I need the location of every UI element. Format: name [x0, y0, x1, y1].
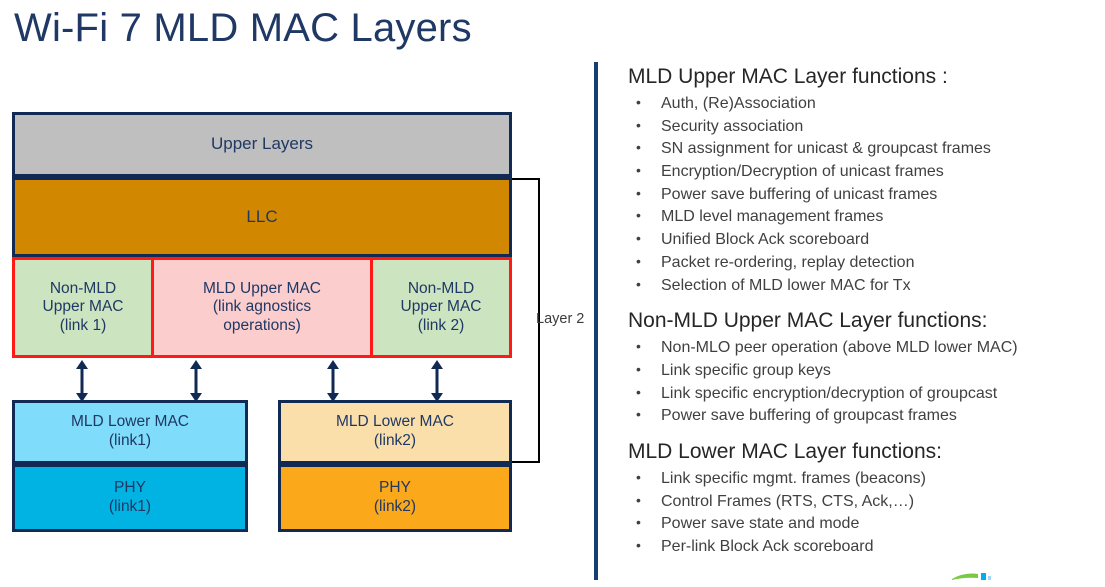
- bullet-icon: •: [636, 116, 641, 136]
- block-label: PHY(link1): [109, 479, 151, 516]
- diagram-block-mld-lower-mac-link2: MLD Lower MAC(link2): [278, 400, 512, 464]
- list-item-label: Packet re-ordering, replay detection: [661, 254, 914, 271]
- bullet-icon: •: [636, 138, 641, 158]
- list-item-label: Link specific mgmt. frames (beacons): [661, 470, 926, 487]
- list-item-label: Non-MLO peer operation (above MLD lower …: [661, 339, 1018, 356]
- list-item: •Packet re-ordering, replay detection: [628, 252, 1105, 275]
- bullet-icon: •: [636, 383, 641, 403]
- bullet-icon: •: [636, 536, 641, 556]
- bullet-icon: •: [636, 513, 641, 533]
- double-arrow-icon: [429, 360, 445, 402]
- section-bullets-mld-lower-mac: •Link specific mgmt. frames (beacons) •C…: [628, 468, 1105, 559]
- list-item-label: Power save buffering of groupcast frames: [661, 407, 957, 424]
- section-bullets-mld-upper-mac: •Auth, (Re)Association •Security associa…: [628, 93, 1105, 297]
- diagram-block-non-mld-upper-mac-link1: Non-MLDUpper MAC(link 1): [12, 257, 154, 358]
- mld-mac-layer-diagram: Upper Layers LLC Non-MLDUpper MAC(link 1…: [0, 0, 596, 580]
- list-item: •Link specific group keys: [628, 360, 1105, 383]
- list-item: •Non-MLO peer operation (above MLD lower…: [628, 337, 1105, 360]
- list-item-label: Power save buffering of unicast frames: [661, 186, 937, 203]
- block-label: MLD Lower MAC(link1): [71, 413, 189, 450]
- diagram-block-phy-link2: PHY(link2): [278, 464, 512, 532]
- bullet-icon: •: [636, 93, 641, 113]
- list-item: •Control Frames (RTS, CTS, Ack,…): [628, 491, 1105, 514]
- double-arrow-icon: [325, 360, 341, 402]
- bullet-icon: •: [636, 161, 641, 181]
- bullet-icon: •: [636, 491, 641, 511]
- list-item-label: SN assignment for unicast & groupcast fr…: [661, 140, 991, 157]
- block-label: PHY(link2): [374, 479, 416, 516]
- list-item-label: Power save state and mode: [661, 515, 859, 532]
- diagram-block-mld-lower-mac-link1: MLD Lower MAC(link1): [12, 400, 248, 464]
- list-item: •Power save buffering of groupcast frame…: [628, 405, 1105, 428]
- diagram-block-mld-upper-mac: MLD Upper MAC(link agnosticsoperations): [151, 257, 373, 358]
- section-bullets-non-mld-upper-mac: •Non-MLO peer operation (above MLD lower…: [628, 337, 1105, 428]
- double-arrow-icon: [74, 360, 90, 402]
- bullet-icon: •: [636, 468, 641, 488]
- list-item: •Security association: [628, 116, 1105, 139]
- bullet-icon: •: [636, 360, 641, 380]
- list-item-label: Link specific encryption/decryption of g…: [661, 385, 997, 402]
- list-item: •Auth, (Re)Association: [628, 93, 1105, 116]
- list-item-label: Selection of MLD lower MAC for Tx: [661, 277, 911, 294]
- double-arrow-icon: [188, 360, 204, 402]
- layer2-label: Layer 2: [536, 311, 584, 327]
- vertical-divider: [594, 62, 598, 580]
- section-heading-mld-upper-mac: MLD Upper MAC Layer functions :: [628, 64, 1105, 91]
- bullet-icon: •: [636, 405, 641, 425]
- functions-text-panel: MLD Upper MAC Layer functions : •Auth, (…: [628, 64, 1105, 559]
- list-item: •Power save buffering of unicast frames: [628, 184, 1105, 207]
- block-label: LLC: [246, 207, 277, 227]
- bullet-icon: •: [636, 184, 641, 204]
- list-item-label: Control Frames (RTS, CTS, Ack,…): [661, 493, 914, 510]
- diagram-block-upper-layers: Upper Layers: [12, 112, 512, 177]
- bullet-icon: •: [636, 252, 641, 272]
- list-item-label: Unified Block Ack scoreboard: [661, 231, 869, 248]
- list-item: •Unified Block Ack scoreboard: [628, 229, 1105, 252]
- section-heading-non-mld-upper-mac: Non-MLD Upper MAC Layer functions:: [628, 308, 1105, 335]
- block-label: MLD Upper MAC(link agnosticsoperations): [203, 280, 321, 336]
- list-item-label: Per-link Block Ack scoreboard: [661, 538, 874, 555]
- block-label: Non-MLDUpper MAC(link 2): [401, 280, 482, 336]
- list-item: •MLD level management frames: [628, 206, 1105, 229]
- list-item: •Selection of MLD lower MAC for Tx: [628, 275, 1105, 298]
- list-item: •Per-link Block Ack scoreboard: [628, 536, 1105, 559]
- bullet-icon: •: [636, 229, 641, 249]
- list-item: •Link specific mgmt. frames (beacons): [628, 468, 1105, 491]
- diagram-block-phy-link1: PHY(link1): [12, 464, 248, 532]
- block-label: Upper Layers: [211, 134, 313, 154]
- block-label: MLD Lower MAC(link2): [336, 413, 454, 450]
- bullet-icon: •: [636, 337, 641, 357]
- list-item: •Link specific encryption/decryption of …: [628, 383, 1105, 406]
- list-item-label: Encryption/Decryption of unicast frames: [661, 163, 944, 180]
- logo-fragment-icon: [952, 569, 996, 580]
- list-item-label: Security association: [661, 118, 803, 135]
- bullet-icon: •: [636, 206, 641, 226]
- bullet-icon: •: [636, 275, 641, 295]
- diagram-block-llc: LLC: [12, 177, 512, 257]
- list-item-label: Link specific group keys: [661, 362, 831, 379]
- list-item: •SN assignment for unicast & groupcast f…: [628, 138, 1105, 161]
- diagram-block-non-mld-upper-mac-link2: Non-MLDUpper MAC(link 2): [370, 257, 512, 358]
- list-item-label: MLD level management frames: [661, 208, 883, 225]
- list-item: •Power save state and mode: [628, 513, 1105, 536]
- list-item-label: Auth, (Re)Association: [661, 95, 816, 112]
- section-heading-mld-lower-mac: MLD Lower MAC Layer functions:: [628, 439, 1105, 466]
- list-item: •Encryption/Decryption of unicast frames: [628, 161, 1105, 184]
- block-label: Non-MLDUpper MAC(link 1): [43, 280, 124, 336]
